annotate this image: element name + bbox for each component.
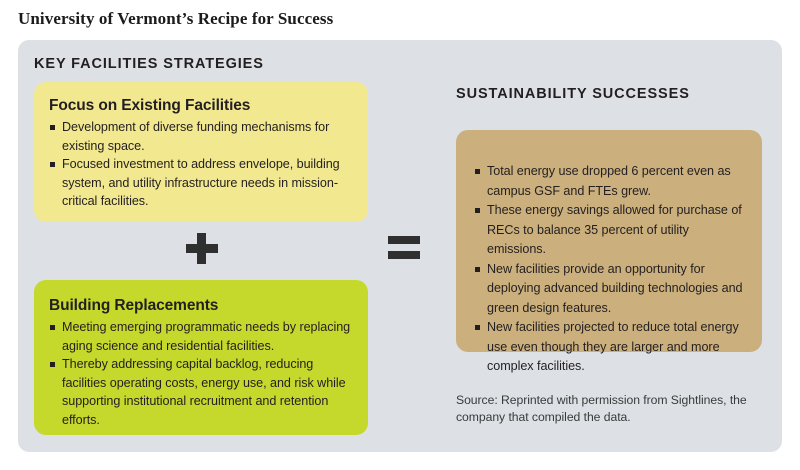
card-title-building-replacements: Building Replacements <box>49 296 352 316</box>
infographic-panel: KEY FACILITIES STRATEGIES Focus on Exist… <box>18 40 782 452</box>
list-item: Total energy use dropped 6 percent even … <box>474 162 744 201</box>
list-item: New facilities projected to reduce total… <box>474 318 744 377</box>
list-item: Focused investment to address envelope, … <box>49 155 352 211</box>
sustainability-successes-heading: SUSTAINABILITY SUCCESSES <box>456 86 690 102</box>
key-facilities-strategies-heading: KEY FACILITIES STRATEGIES <box>34 56 264 72</box>
bullet-list-focus-on-existing-facilities: Development of diverse funding mechanism… <box>49 118 352 211</box>
card-building-replacements: Building Replacements Meeting emerging p… <box>34 280 368 435</box>
list-item: Development of diverse funding mechanism… <box>49 118 352 155</box>
list-item: These energy savings allowed for purchas… <box>474 201 744 260</box>
card-focus-on-existing-facilities: Focus on Existing Facilities Development… <box>34 82 368 222</box>
list-item: Meeting emerging programmatic needs by r… <box>49 318 352 355</box>
source-note: Source: Reprinted with permission from S… <box>456 392 776 426</box>
plus-operator-icon <box>186 232 220 266</box>
bullet-list-building-replacements: Meeting emerging programmatic needs by r… <box>49 318 352 430</box>
card-sustainability-successes: Total energy use dropped 6 percent even … <box>456 130 762 352</box>
bullet-list-sustainability-successes: Total energy use dropped 6 percent even … <box>474 162 744 377</box>
page-title: University of Vermont’s Recipe for Succe… <box>18 8 333 30</box>
list-item: New facilities provide an opportunity fo… <box>474 260 744 319</box>
card-title-focus-on-existing-facilities: Focus on Existing Facilities <box>49 96 352 116</box>
list-item: Thereby addressing capital backlog, redu… <box>49 355 352 429</box>
equals-operator-icon <box>388 236 420 260</box>
